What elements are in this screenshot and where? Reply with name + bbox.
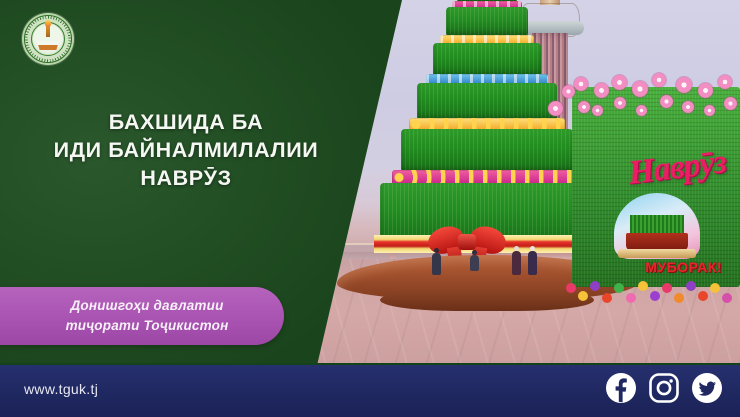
org-line-2: тиҷорати Тоҷикистон — [22, 316, 272, 336]
cone-tier — [401, 129, 573, 173]
instagram-icon[interactable] — [649, 373, 679, 403]
headline-line-3: НАВРӮЗ — [0, 164, 372, 192]
cone-basin-foot — [380, 289, 594, 311]
logo-book-icon — [37, 41, 59, 50]
wall-flowerbed — [564, 277, 740, 307]
headline: БАХШИДА БА ИДИ БАЙНАЛМИЛАЛИИ НАВРӮЗ — [0, 108, 372, 192]
person-silhouette — [512, 246, 521, 275]
organization-banner: Донишгоҳи давлатии тиҷорати Тоҷикистон — [0, 287, 284, 345]
wall-muborak-text: МУБОРАК! — [645, 259, 722, 275]
organization-name: Донишгоҳи давлатии тиҷорати Тоҷикистон — [22, 296, 272, 336]
social-links — [606, 373, 722, 403]
facebook-icon[interactable] — [606, 373, 636, 403]
university-logo[interactable] — [22, 13, 74, 65]
cone-tier — [433, 43, 541, 77]
person-silhouette — [528, 246, 537, 275]
org-line-1: Донишгоҳи давлатии — [22, 296, 272, 316]
navruz-poster: Наврӯз МУБОРАК! — [0, 0, 740, 417]
logo-flame-icon — [45, 20, 51, 27]
person-silhouette — [470, 250, 479, 271]
navruz-basket-art — [614, 193, 700, 259]
cone-tier — [446, 7, 528, 37]
headline-line-2: ИДИ БАЙНАЛМИЛАЛИИ — [0, 136, 372, 164]
twitter-icon[interactable] — [692, 373, 722, 403]
person-silhouette — [432, 248, 441, 275]
sumalak-cone-tower — [372, 0, 602, 275]
website-url[interactable]: www.tguk.tj — [24, 381, 98, 397]
headline-line-1: БАХШИДА БА — [0, 108, 372, 136]
footer-bar: www.tguk.tj — [0, 363, 740, 417]
cone-tier — [417, 83, 557, 121]
